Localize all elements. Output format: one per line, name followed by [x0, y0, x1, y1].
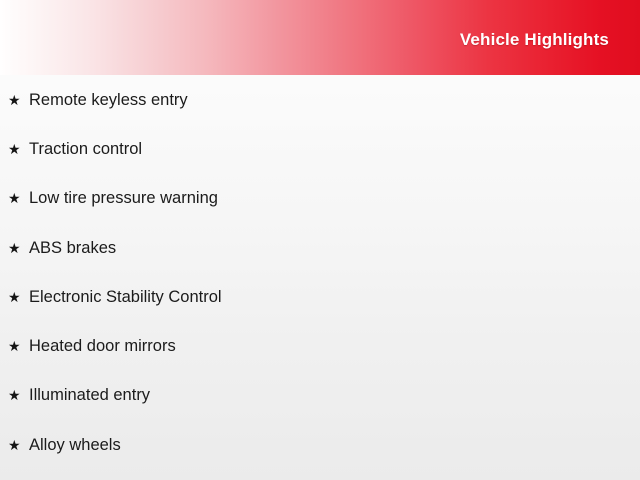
- list-item: ★ Illuminated entry: [0, 371, 640, 420]
- list-item: ★ Heated door mirrors: [0, 321, 640, 370]
- star-icon: ★: [8, 93, 29, 107]
- list-item-label: Electronic Stability Control: [29, 287, 222, 307]
- list-item: ★ Traction control: [0, 124, 640, 173]
- page-title: Vehicle Highlights: [460, 30, 609, 50]
- list-item: ★ Low tire pressure warning: [0, 174, 640, 223]
- list-item: ★ Alloy wheels: [0, 420, 640, 469]
- list-item: ★ ABS brakes: [0, 223, 640, 272]
- list-item-label: Illuminated entry: [29, 385, 150, 405]
- vehicle-highlights-list: ★ Remote keyless entry ★ Traction contro…: [0, 75, 640, 469]
- star-icon: ★: [8, 388, 29, 402]
- star-icon: ★: [8, 290, 29, 304]
- list-item-label: Heated door mirrors: [29, 336, 176, 356]
- star-icon: ★: [8, 241, 29, 255]
- star-icon: ★: [8, 438, 29, 452]
- list-item: ★ Electronic Stability Control: [0, 272, 640, 321]
- header-band: Vehicle Highlights: [0, 0, 640, 75]
- list-item-label: ABS brakes: [29, 238, 116, 258]
- star-icon: ★: [8, 191, 29, 205]
- list-item-label: Remote keyless entry: [29, 90, 188, 110]
- star-icon: ★: [8, 339, 29, 353]
- star-icon: ★: [8, 142, 29, 156]
- list-item: ★ Remote keyless entry: [0, 75, 640, 124]
- list-item-label: Alloy wheels: [29, 435, 121, 455]
- list-item-label: Low tire pressure warning: [29, 188, 218, 208]
- list-item-label: Traction control: [29, 139, 142, 159]
- vehicle-highlights-page: Vehicle Highlights ★ Remote keyless entr…: [0, 0, 640, 480]
